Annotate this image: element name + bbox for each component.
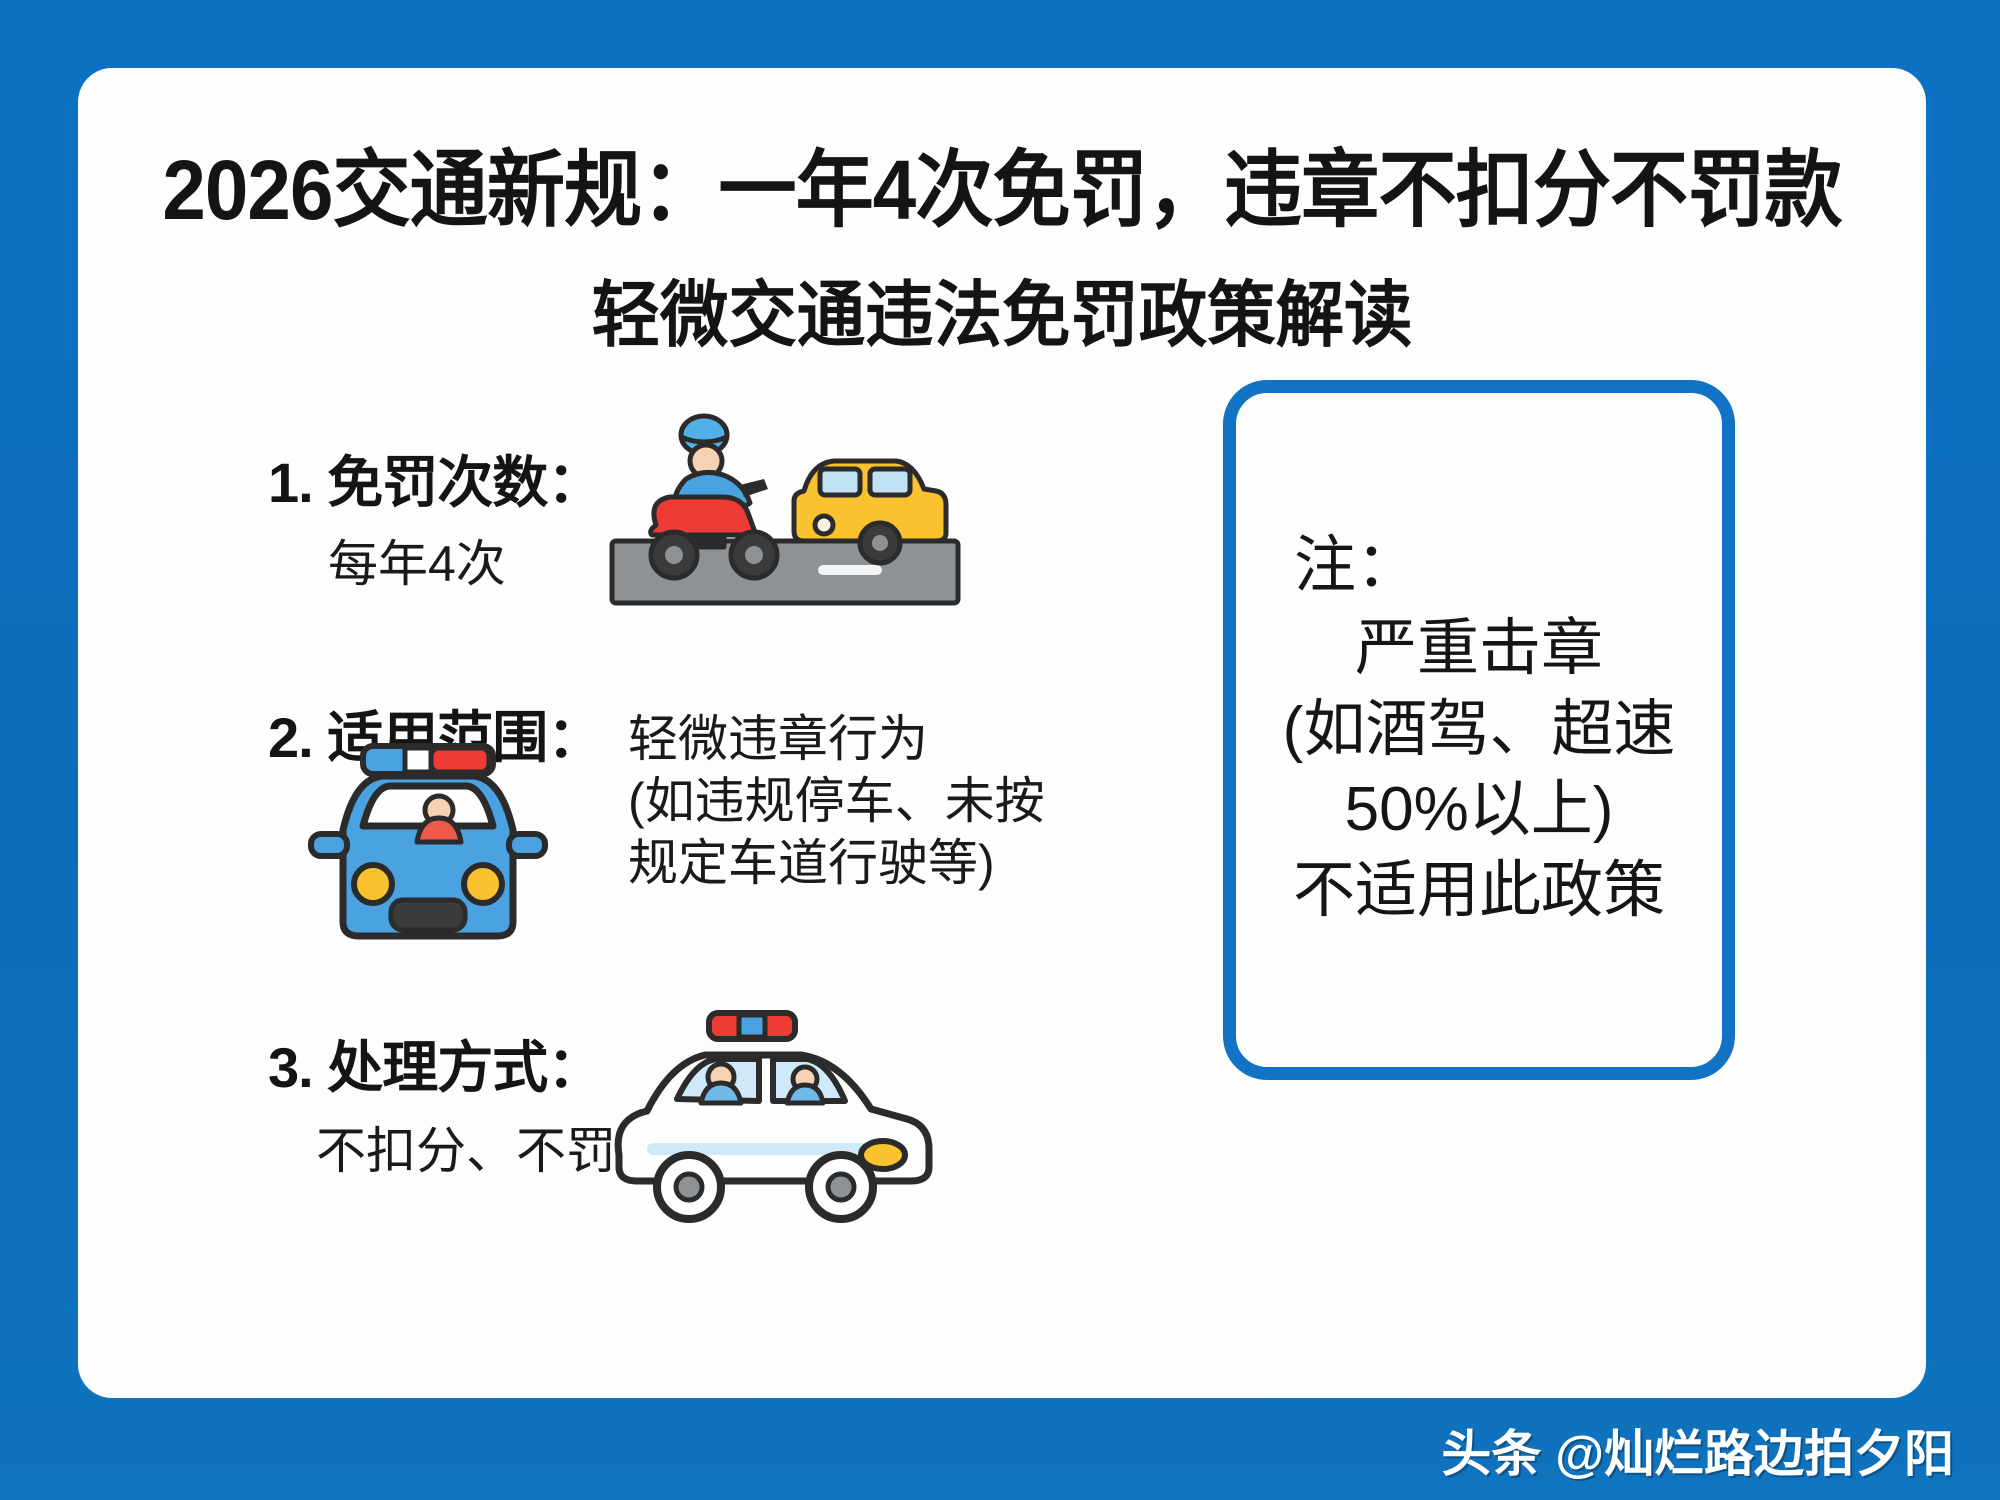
item-2-body-line-1: 轻微违章行为 — [628, 708, 1148, 770]
note-line-1: 严重击章 — [1355, 609, 1603, 690]
item-1-body: 每年4次 — [328, 535, 602, 594]
item-2-body: 轻微违章行为 (如违规停车、未按 规定车道行驶等) — [628, 708, 1148, 894]
page-subtitle: 轻微交通违法免罚政策解读 — [124, 256, 1880, 361]
police-car-side-icon — [593, 1003, 933, 1238]
note-line-4: 不适用此政策 — [1293, 851, 1665, 932]
content-card: 2026交通新规：一年4次免罚，违章不扣分不罚款 轻微交通违法免罚政策解读 1.… — [78, 68, 1926, 1398]
watermark: 头条 @灿烂路边拍夕阳 — [1441, 1414, 1954, 1486]
item-2-body-line-2: (如违规停车、未按 — [628, 770, 1148, 832]
scooter-and-car-icon — [608, 413, 968, 628]
note-box-content: 注： 严重击章 (如酒驾、超速 50%以上) 不适用此政策 — [1236, 393, 1722, 1067]
note-line-2: (如酒驾、超速 — [1283, 690, 1676, 771]
item-2-body-line-3: 规定车道行驶等) — [628, 832, 1148, 894]
police-car-front-icon — [293, 738, 563, 963]
list-item-1: 1. 免罚次数： 每年4次 — [268, 438, 602, 594]
poster-root: 2026交通新规：一年4次免罚，违章不扣分不罚款 轻微交通违法免罚政策解读 1.… — [0, 0, 2000, 1500]
note-box: 注： 严重击章 (如酒驾、超速 50%以上) 不适用此政策 — [1223, 380, 1735, 1080]
items-column: 1. 免罚次数： 每年4次 — [138, 388, 1218, 1368]
note-label: 注： — [1294, 529, 1418, 603]
note-line-3: 50%以上) — [1345, 770, 1614, 851]
item-1-heading: 1. 免罚次数： — [268, 438, 602, 519]
page-title: 2026交通新规：一年4次免罚，违章不扣分不罚款 — [143, 123, 1862, 244]
